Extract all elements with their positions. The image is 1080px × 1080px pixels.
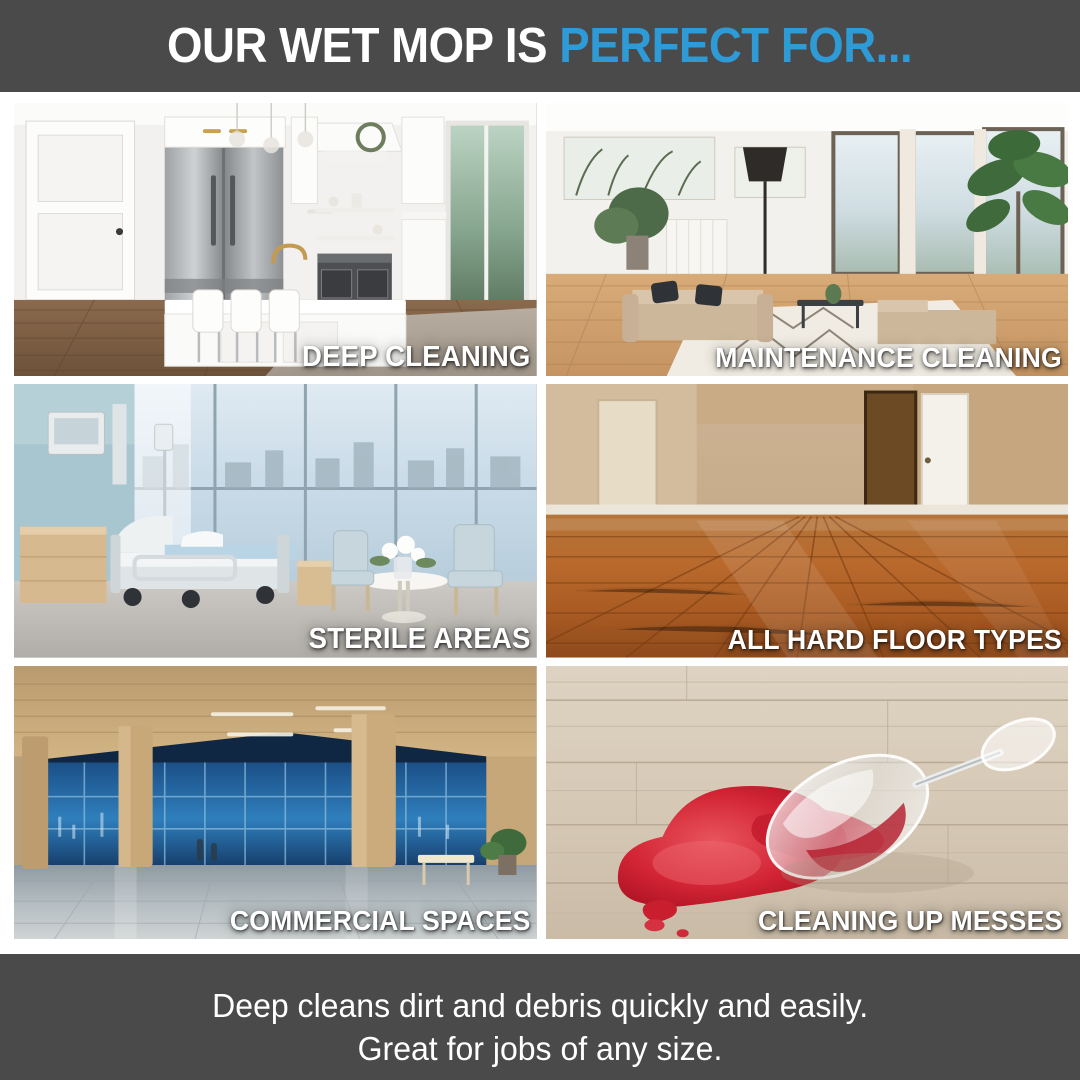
- tile-caption: ALL HARD FLOOR TYPES: [728, 624, 1062, 656]
- commercial-space-illustration: [14, 666, 537, 939]
- living-room-illustration: [546, 103, 1069, 376]
- page-title: OUR WET MOP IS PERFECT FOR...: [167, 18, 912, 74]
- tile-cleaning-up-messes[interactable]: CLEANING UP MESSES: [546, 666, 1069, 939]
- tile-caption: DEEP CLEANING: [302, 341, 531, 374]
- promo-infographic: OUR WET MOP IS PERFECT FOR...: [0, 0, 1080, 1080]
- tile-sterile-areas[interactable]: STERILE AREAS: [14, 384, 537, 657]
- hardwood-floor-illustration: [546, 384, 1069, 657]
- wine-spill-illustration: [546, 666, 1069, 939]
- kitchen-illustration: [14, 103, 537, 376]
- tile-caption: COMMERCIAL SPACES: [230, 905, 531, 937]
- footer-line-1: Deep cleans dirt and debris quickly and …: [212, 984, 868, 1027]
- tile-maintenance-cleaning[interactable]: MAINTENANCE CLEANING: [546, 103, 1069, 376]
- hospital-room-illustration: [14, 384, 537, 657]
- header-bar: OUR WET MOP IS PERFECT FOR...: [0, 0, 1080, 92]
- tile-caption: STERILE AREAS: [309, 623, 531, 656]
- tile-grid: DEEP CLEANING: [14, 103, 1068, 939]
- footer-bar: Deep cleans dirt and debris quickly and …: [0, 954, 1080, 1080]
- page-title-accent: PERFECT FOR...: [560, 19, 913, 73]
- footer-line-2: Great for jobs of any size.: [358, 1027, 723, 1070]
- page-title-plain: OUR WET MOP IS: [167, 19, 559, 73]
- tile-caption: CLEANING UP MESSES: [758, 905, 1062, 937]
- tile-deep-cleaning[interactable]: DEEP CLEANING: [14, 103, 537, 376]
- tile-grid-container: DEEP CLEANING: [0, 92, 1080, 954]
- tile-commercial-spaces[interactable]: COMMERCIAL SPACES: [14, 666, 537, 939]
- tile-all-hard-floor-types[interactable]: ALL HARD FLOOR TYPES: [546, 384, 1069, 657]
- tile-caption: MAINTENANCE CLEANING: [715, 342, 1062, 374]
